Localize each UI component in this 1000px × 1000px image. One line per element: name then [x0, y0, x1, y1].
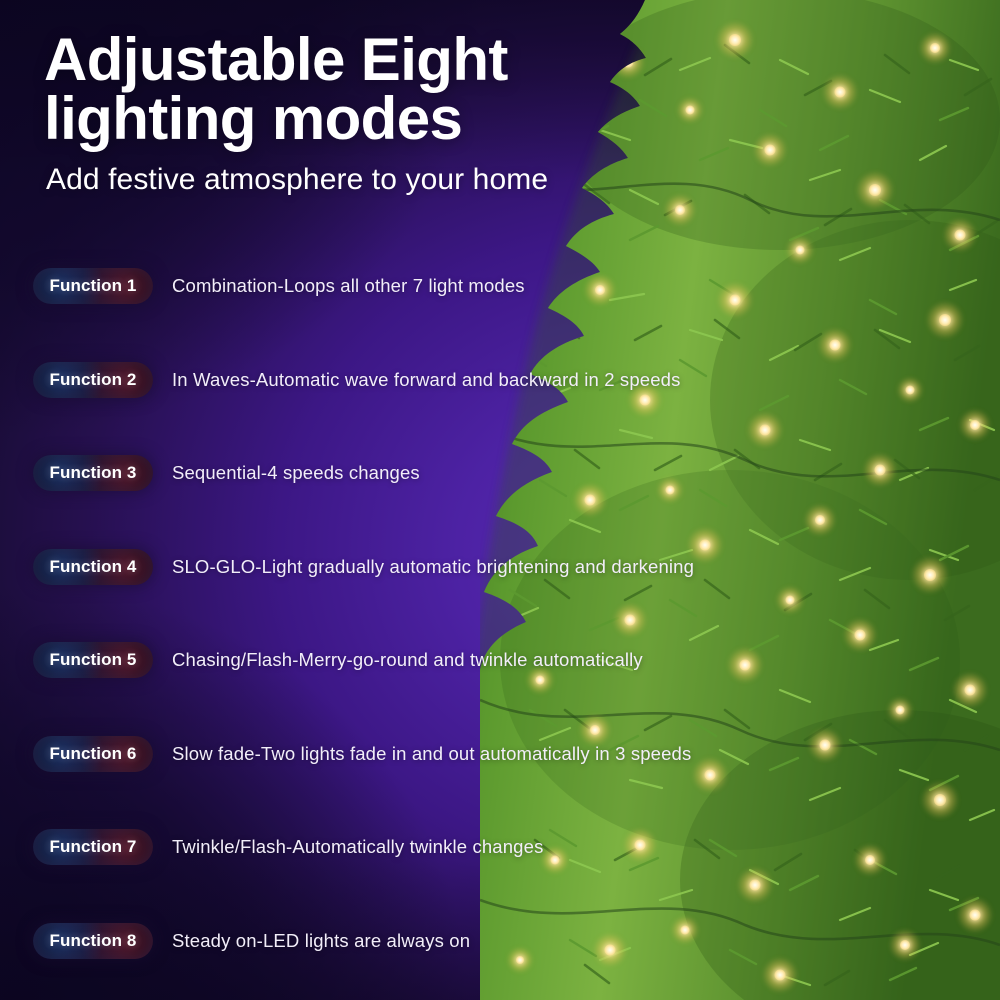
infographic-canvas: Adjustable Eight lighting modes Add fest… — [0, 0, 1000, 1000]
function-description-3: Sequential-4 speeds changes — [172, 455, 420, 491]
function-badge-1: Function 1 — [33, 268, 153, 304]
function-badge-8: Function 8 — [33, 923, 153, 959]
list-item: Function 4 SLO-GLO-Light gradually autom… — [33, 549, 713, 643]
badge-label: Function 5 — [50, 650, 137, 670]
function-badge-6: Function 6 — [33, 736, 153, 772]
function-description-6: Slow fade-Two lights fade in and out aut… — [172, 736, 691, 772]
headline-line-2: lighting modes — [44, 89, 704, 148]
badge-label: Function 8 — [50, 931, 137, 951]
function-badge-7: Function 7 — [33, 829, 153, 865]
headline-line-1: Adjustable Eight — [44, 26, 508, 93]
function-badge-2: Function 2 — [33, 362, 153, 398]
badge-label: Function 3 — [50, 463, 137, 483]
badge-label: Function 6 — [50, 744, 137, 764]
function-badge-5: Function 5 — [33, 642, 153, 678]
lighting-modes-list: Function 1 Combination-Loops all other 7… — [33, 268, 713, 1000]
badge-label: Function 4 — [50, 557, 137, 577]
list-item: Function 5 Chasing/Flash-Merry-go-round … — [33, 642, 713, 736]
function-description-4: SLO-GLO-Light gradually automatic bright… — [172, 549, 694, 585]
list-item: Function 3 Sequential-4 speeds changes — [33, 455, 713, 549]
list-item: Function 8 Steady on-LED lights are alwa… — [33, 923, 713, 1000]
badge-label: Function 1 — [50, 276, 137, 296]
function-badge-4: Function 4 — [33, 549, 153, 585]
function-badge-3: Function 3 — [33, 455, 153, 491]
hero-text-block: Adjustable Eight lighting modes Add fest… — [44, 30, 704, 197]
subtitle: Add festive atmosphere to your home — [46, 163, 704, 197]
function-description-1: Combination-Loops all other 7 light mode… — [172, 268, 525, 304]
list-item: Function 6 Slow fade-Two lights fade in … — [33, 736, 713, 830]
badge-label: Function 2 — [50, 370, 137, 390]
list-item: Function 7 Twinkle/Flash-Automatically t… — [33, 829, 713, 923]
list-item: Function 1 Combination-Loops all other 7… — [33, 268, 713, 362]
badge-label: Function 7 — [50, 837, 137, 857]
function-description-8: Steady on-LED lights are always on — [172, 923, 470, 959]
function-description-7: Twinkle/Flash-Automatically twinkle chan… — [172, 829, 543, 865]
function-description-5: Chasing/Flash-Merry-go-round and twinkle… — [172, 642, 643, 678]
page-title: Adjustable Eight lighting modes — [44, 30, 704, 149]
list-item: Function 2 In Waves-Automatic wave forwa… — [33, 362, 713, 456]
function-description-2: In Waves-Automatic wave forward and back… — [172, 362, 680, 398]
